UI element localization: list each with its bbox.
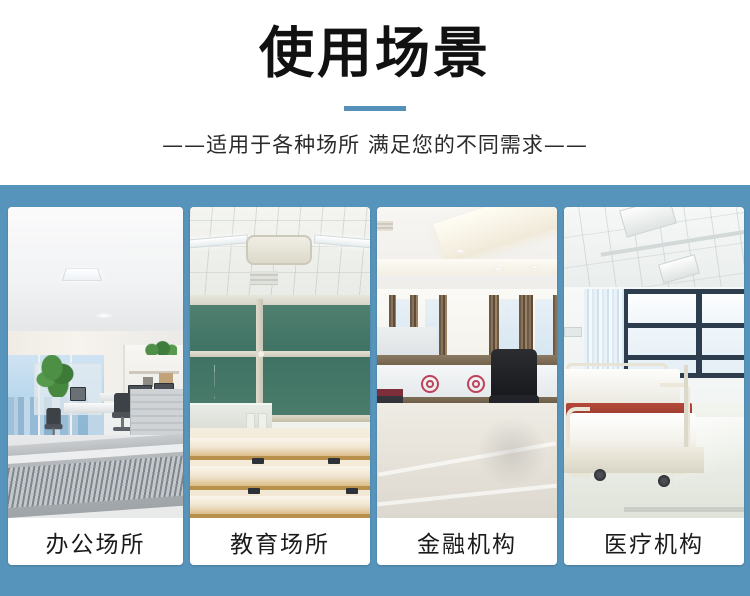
classroom-board-rail: [190, 351, 370, 357]
hospital-window-frame: [622, 323, 744, 328]
classroom-projector: [246, 235, 312, 265]
scene-card-office[interactable]: 办公场所: [8, 207, 183, 565]
hospital-window-frame: [696, 289, 702, 377]
bank-logo-emblem-icon: [467, 375, 485, 393]
classroom-board-knob: [258, 351, 264, 357]
hospital-window-frame: [622, 289, 744, 294]
classroom-desk-clip: [328, 458, 340, 464]
bank-logo-emblem-icon: [421, 375, 439, 393]
bank-curtain: [519, 295, 533, 357]
bank-curtain: [489, 295, 499, 357]
bank-downlight-icon: [493, 267, 504, 271]
classroom-photo: [190, 207, 370, 518]
bank-photo: [377, 207, 557, 518]
scene-card-medical[interactable]: 医疗机构: [564, 207, 744, 565]
classroom-desk-row: [190, 438, 370, 460]
hospital-baseboard: [624, 507, 744, 512]
office-counter-grille: [8, 456, 183, 508]
hospital-bed-frame: [564, 447, 704, 473]
page-subtitle: ——适用于各种场所 满足您的不同需求——: [0, 130, 750, 160]
classroom-ceiling-vent: [250, 271, 278, 285]
classroom-desk-clip: [248, 488, 260, 494]
classroom-chalkboard: [190, 305, 370, 417]
scene-card-label-office: 办公场所: [8, 518, 183, 565]
hospital-wall-fixture: [564, 327, 582, 337]
bank-downlight-icon: [455, 249, 466, 253]
hospital-bed-wheel: [594, 469, 606, 481]
scene-card-label-education: 教育场所: [190, 518, 370, 565]
page-header: 使用场景 ——适用于各种场所 满足您的不同需求——: [0, 0, 750, 185]
classroom-desk-row: [190, 496, 370, 518]
scene-card-finance[interactable]: 金融机构: [377, 207, 557, 565]
classroom-podium-item: [258, 413, 267, 429]
bank-floor-reflection: [477, 417, 547, 487]
classroom-podium-item: [246, 413, 255, 429]
classroom-chalk-writing: [214, 365, 254, 399]
office-photo: [8, 207, 183, 518]
hospital-window-frame: [622, 355, 744, 360]
page-title: 使用场景: [0, 18, 750, 88]
title-accent-bar: [344, 106, 406, 111]
bank-downlight-icon: [529, 265, 540, 269]
hospital-bed-wheel: [658, 475, 670, 487]
classroom-desk-clip: [252, 458, 264, 464]
office-panel-light-icon: [62, 269, 103, 281]
office-downlight-icon: [96, 313, 112, 318]
bank-air-vent: [377, 221, 393, 231]
office-monitor: [70, 387, 86, 401]
classroom-tiered-desks: [190, 428, 370, 518]
bank-curtain: [553, 295, 557, 357]
scene-panel: 办公场所: [0, 185, 750, 596]
classroom-desk-row: [190, 466, 370, 490]
scene-card-label-medical: 医疗机构: [564, 518, 744, 565]
hospital-photo: [564, 207, 744, 518]
office-shelf-plant: [141, 339, 177, 355]
classroom-desk-clip: [346, 488, 358, 494]
scene-card-education[interactable]: 教育场所: [190, 207, 370, 565]
bank-curtain: [439, 295, 447, 357]
office-foreground-counter: [8, 434, 183, 518]
scene-card-label-finance: 金融机构: [377, 518, 557, 565]
scene-card-row: 办公场所: [8, 207, 745, 565]
